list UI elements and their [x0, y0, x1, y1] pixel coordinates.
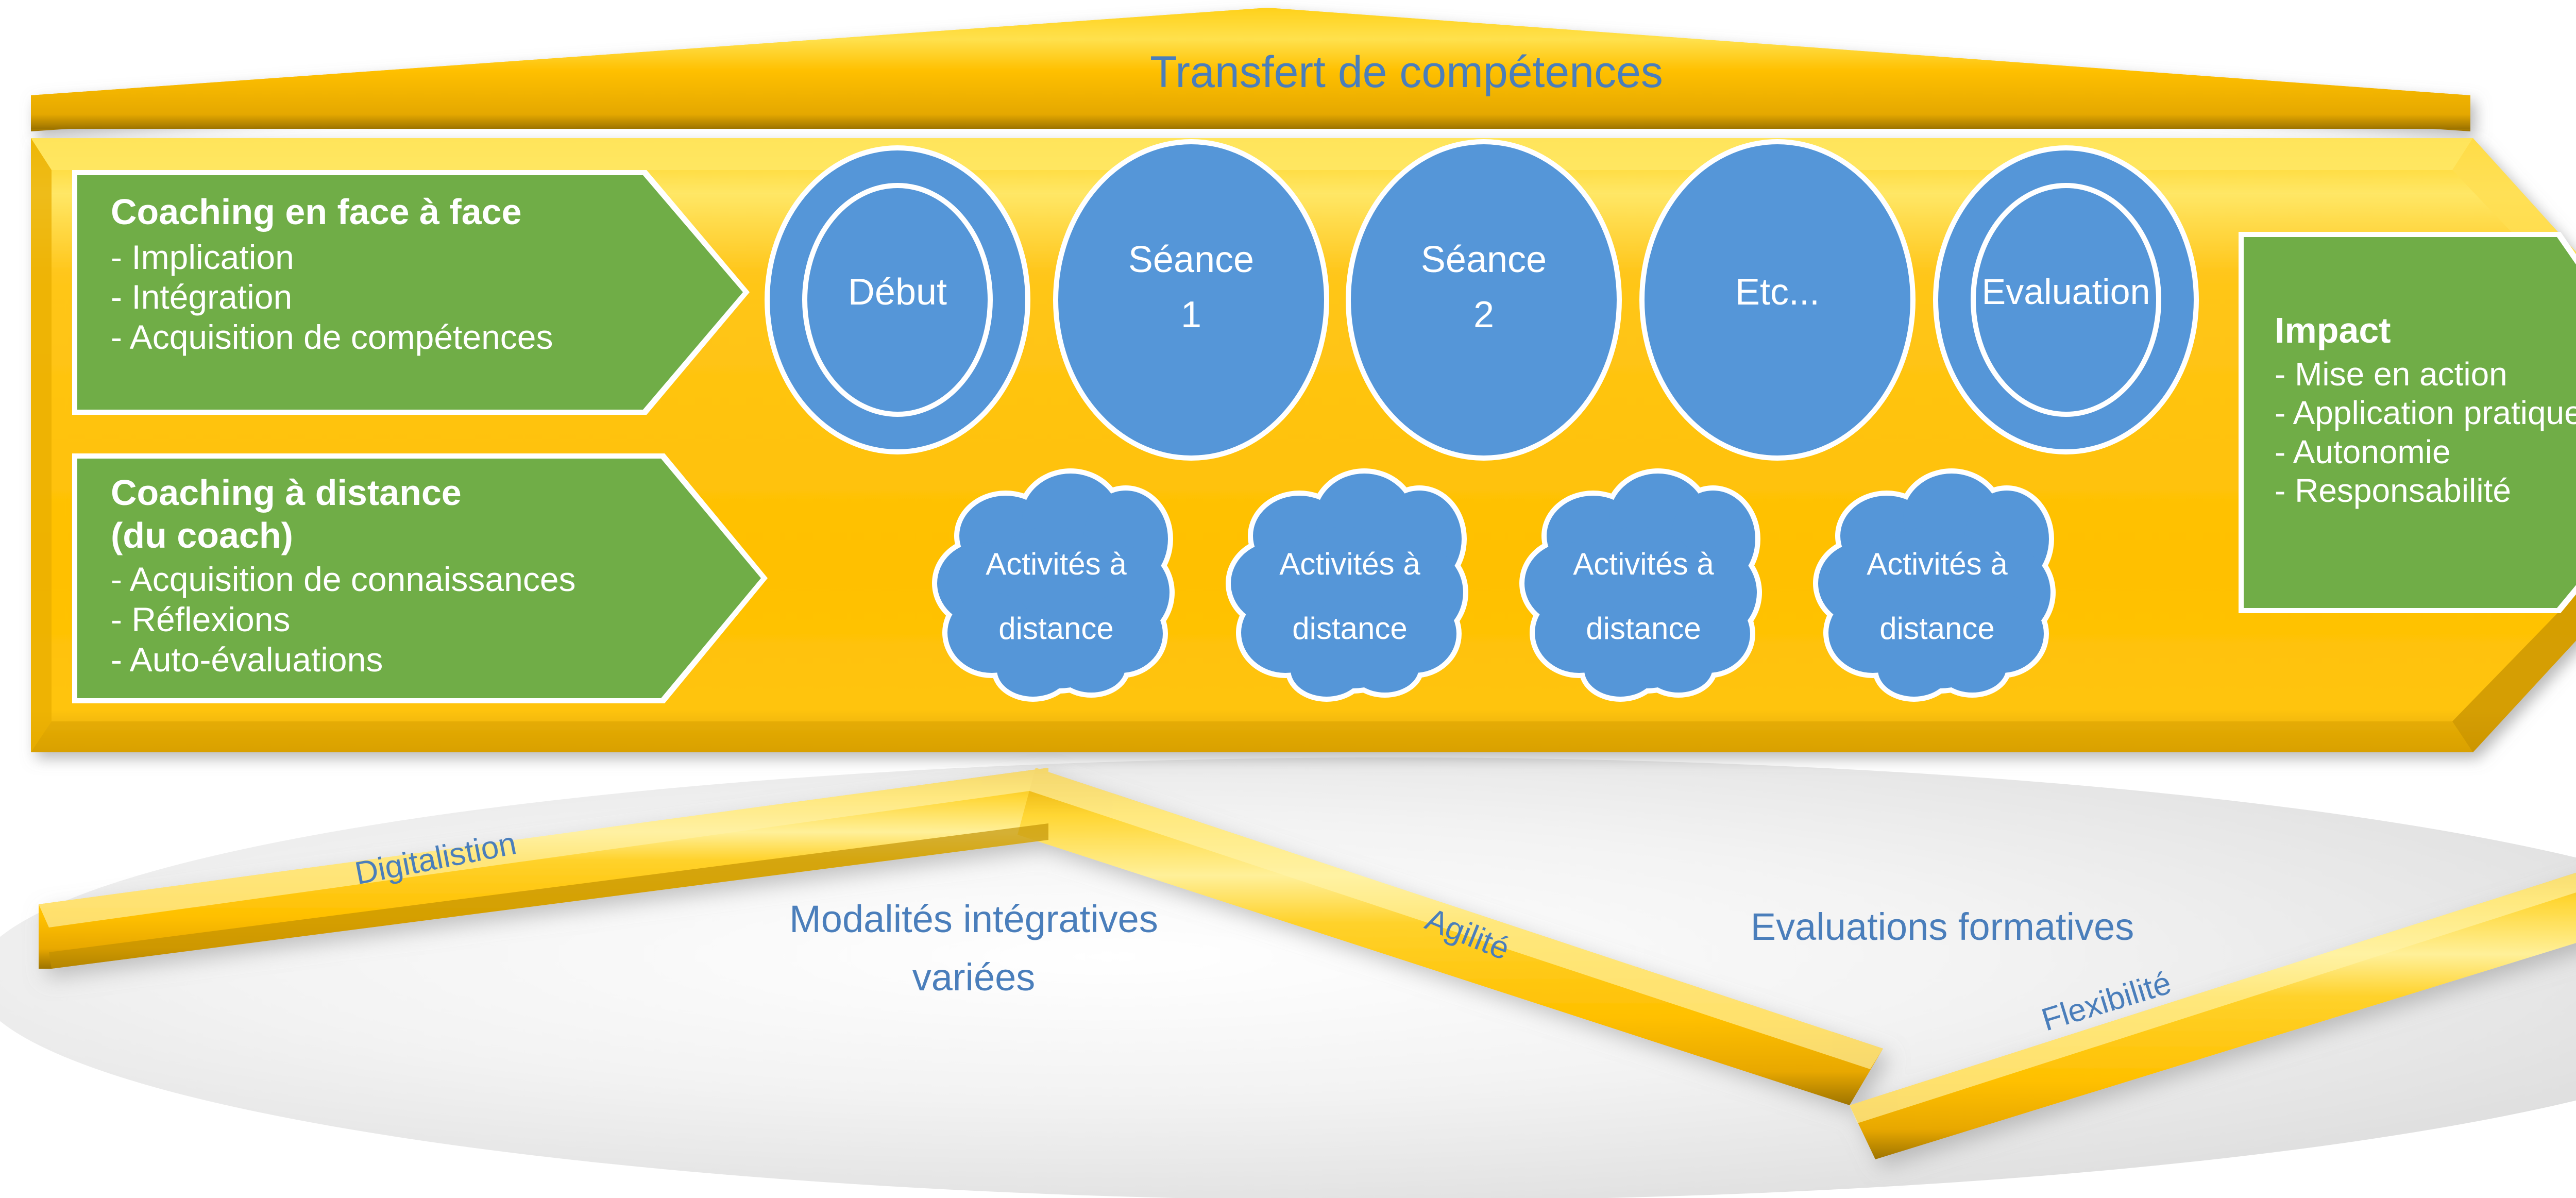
arrow-gap-label-modalites-line-2: variées: [716, 955, 1231, 1000]
circle-debut-label: Début: [794, 271, 1001, 314]
green-block-impact-bullet-3: - Autonomie: [2275, 433, 2576, 472]
page-title: Transfert de compétences: [917, 46, 1896, 98]
green-block-1-heading: Coaching en face à face: [111, 191, 657, 233]
green-block-impact-bullet-1: - Mise en action: [2275, 355, 2576, 394]
green-block-impact-text: Impact - Mise en action - Application pr…: [2275, 309, 2576, 511]
circle-seance-2-label-line-2: 2: [1370, 293, 1597, 337]
circle-etc-label: Etc...: [1674, 271, 1880, 314]
green-block-2-heading-line-2: (du coach): [111, 514, 688, 557]
green-block-2-bullet-1: - Acquisition de connaissances: [111, 560, 688, 600]
arrow-gap-label-modalites-line-1: Modalités intégratives: [716, 897, 1231, 941]
circle-debut-label-line: Début: [794, 271, 1001, 314]
circle-evaluation-label-line: Evaluation: [1942, 271, 2190, 313]
green-block-2-text: Coaching à distance (du coach) - Acquisi…: [111, 471, 688, 680]
circle-seance-1-label: Séance 1: [1078, 238, 1304, 337]
cloud-3-label-line-2: distance: [1535, 611, 1752, 647]
cloud-1-label: Activités à distance: [948, 546, 1164, 647]
circle-etc-label-line: Etc...: [1674, 271, 1880, 314]
green-block-impact-bullet-2: - Application pratique: [2275, 394, 2576, 433]
cloud-2-label: Activités à distance: [1242, 546, 1458, 647]
cloud-4-label: Activités à distance: [1829, 546, 2045, 647]
cloud-2-label-line-2: distance: [1242, 611, 1458, 647]
circle-evaluation-label: Evaluation: [1942, 271, 2190, 313]
green-block-impact-bullet-4: - Responsabilité: [2275, 471, 2576, 511]
circle-seance-1-label-line-1: Séance: [1078, 238, 1304, 282]
green-block-1-bullet-2: - Intégration: [111, 277, 657, 317]
green-block-2-bullet-3: - Auto-évaluations: [111, 640, 688, 680]
cloud-1-label-line-1: Activités à: [948, 546, 1164, 583]
banner-body-bottom-bevel: [31, 721, 2473, 752]
green-block-2-bullet-2: - Réflexions: [111, 600, 688, 640]
cloud-4-label-line-2: distance: [1829, 611, 2045, 647]
green-block-1-bullet-1: - Implication: [111, 238, 657, 278]
green-block-1-text: Coaching en face à face - Implication - …: [111, 191, 657, 358]
background-shading: [0, 757, 2576, 1198]
banner-left-bevel: [31, 138, 52, 752]
green-block-1-bullet-3: - Acquisition de compétences: [111, 317, 657, 358]
cloud-2-label-line-1: Activités à: [1242, 546, 1458, 583]
arrow-gap-label-modalites: Modalités intégratives variées: [716, 897, 1231, 1000]
green-block-impact-heading: Impact: [2275, 309, 2576, 352]
circle-seance-2-label: Séance 2: [1370, 238, 1597, 337]
circle-seance-1-label-line-2: 1: [1078, 293, 1304, 337]
arrow-gap-label-evaluations: Evaluations formatives: [1659, 904, 2226, 949]
cloud-3-label-line-1: Activités à: [1535, 546, 1752, 583]
circle-seance-2-label-line-1: Séance: [1370, 238, 1597, 282]
cloud-3-label: Activités à distance: [1535, 546, 1752, 647]
cloud-1-label-line-2: distance: [948, 611, 1164, 647]
diagram-canvas: Transfert de compétences Coaching en fac…: [0, 0, 2576, 1198]
green-block-2-heading-line-1: Coaching à distance: [111, 471, 688, 514]
cloud-4-label-line-1: Activités à: [1829, 546, 2045, 583]
arrow-gap-label-evaluations-line-1: Evaluations formatives: [1659, 904, 2226, 949]
